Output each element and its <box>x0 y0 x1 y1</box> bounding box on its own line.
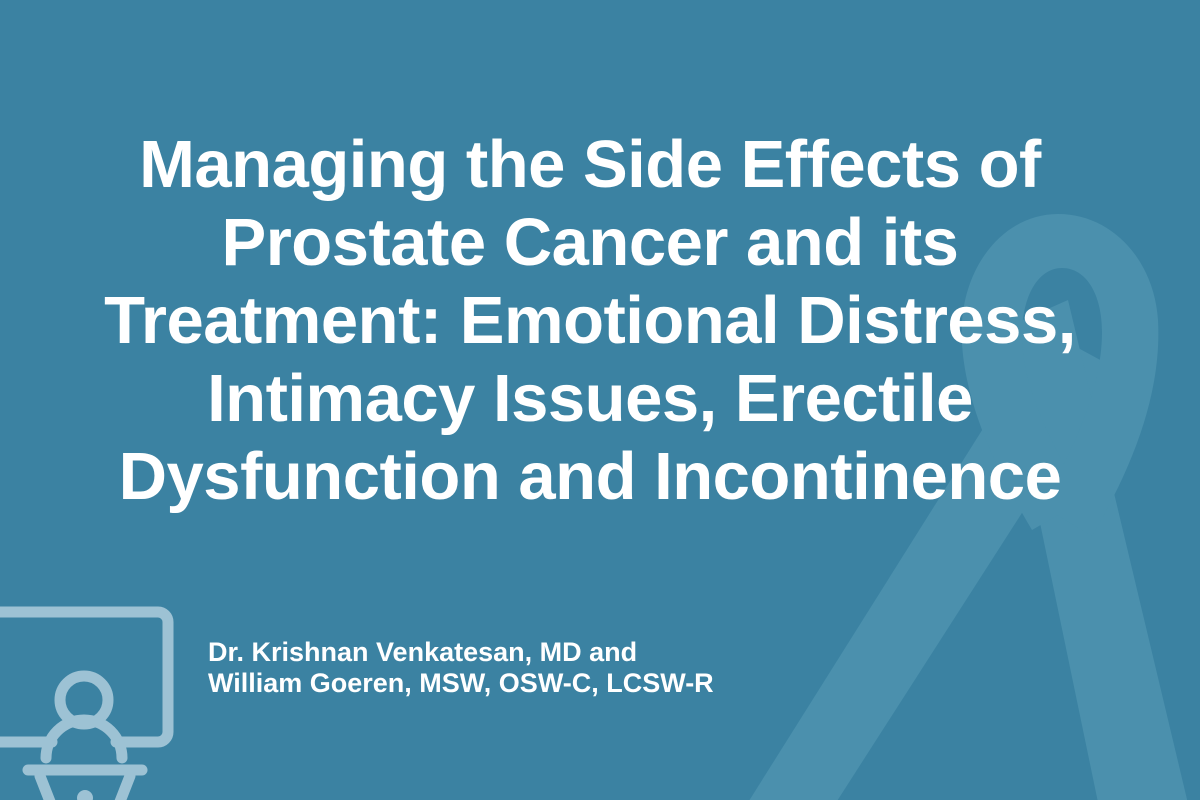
author-line-2: William Goeren, MSW, OSW-C, LCSW-R <box>208 668 908 699</box>
author-line-1: Dr. Krishnan Venkatesan, MD and <box>208 637 908 668</box>
presenter-at-lectern-icon <box>0 600 186 800</box>
lectern-dot <box>77 790 93 800</box>
lectern-body <box>40 776 130 800</box>
page-title: Managing the Side Effects of Prostate Ca… <box>50 126 1130 516</box>
title-slide: Managing the Side Effects of Prostate Ca… <box>0 0 1200 800</box>
presenter-shoulders <box>46 720 122 758</box>
slide-title-text: Managing the Side Effects of Prostate Ca… <box>50 126 1130 516</box>
presenter-head <box>60 676 108 724</box>
author-block: Dr. Krishnan Venkatesan, MD and William … <box>208 637 908 699</box>
